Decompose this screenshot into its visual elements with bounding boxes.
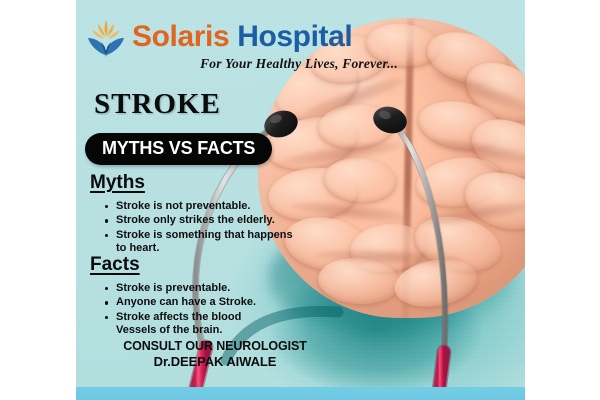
list-item: Stroke affects the blood Vessels of the …: [116, 311, 346, 338]
facts-heading: Facts: [90, 254, 140, 276]
myths-heading: Myths: [90, 172, 145, 194]
brand-tagline: For Your Healthy Lives, Forever...: [164, 56, 434, 72]
cta-line-one: CONSULT OUR NEUROLOGIST: [90, 338, 340, 354]
list-item: Stroke is preventable.: [116, 282, 346, 295]
lotus-in-hands-icon: [84, 16, 128, 58]
poster-bottom-strip: [76, 387, 525, 400]
poster-content: Solaris Hospital For Your Healthy Lives,…: [76, 0, 525, 400]
brand-name-solaris: Solaris: [132, 20, 229, 53]
list-item: Stroke is not preventable.: [116, 200, 346, 213]
page-title: STROKE: [94, 88, 221, 121]
cta-doctor-name: Dr.DEEPAK AIWALE: [90, 354, 340, 370]
brand-lockup: Solaris Hospital: [84, 14, 424, 60]
stroke-awareness-poster: Solaris Hospital For Your Healthy Lives,…: [76, 0, 525, 400]
myths-vs-facts-badge: MYTHS VS FACTS: [85, 133, 272, 165]
brand-name: Solaris Hospital: [132, 22, 352, 52]
myths-list: Stroke is not preventable. Stroke only s…: [90, 200, 346, 257]
list-item: Anyone can have a Stroke.: [116, 296, 346, 309]
facts-list: Stroke is preventable. Anyone can have a…: [90, 282, 346, 339]
brand-name-hospital: Hospital: [237, 20, 352, 53]
call-to-action: CONSULT OUR NEUROLOGIST Dr.DEEPAK AIWALE: [90, 338, 340, 370]
screenshot-canvas: Solaris Hospital For Your Healthy Lives,…: [0, 0, 600, 400]
list-item: Stroke only strikes the elderly.: [116, 214, 346, 227]
list-item: Stroke is something that happens to hear…: [116, 229, 346, 256]
